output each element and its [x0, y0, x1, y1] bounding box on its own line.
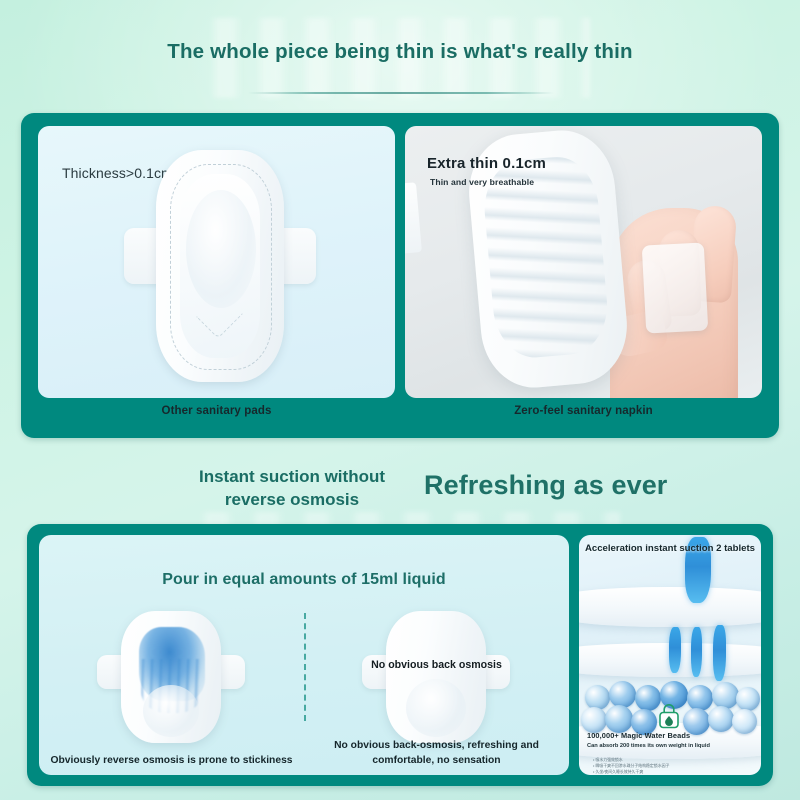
other-pads-card: Thickness>0.1cm [38, 126, 395, 398]
magic-water-beads-card: Acceleration instant suction 2 tablets 1… [579, 535, 761, 775]
pad-emboss-icon [186, 190, 256, 308]
top-layer-sheet-icon [579, 587, 761, 627]
comparison-left: Obviously reverse osmosis is prone to st… [39, 605, 304, 775]
napkin-wing-icon [405, 182, 422, 256]
water-drip-1-icon [669, 627, 681, 673]
lock-with-droplet-icon [658, 703, 680, 729]
absorption-comparison-panel: Pour in equal amounts of 15ml liquid Obv… [27, 524, 773, 786]
bead-1-icon [585, 685, 610, 710]
pour-test-title: Pour in equal amounts of 15ml liquid [39, 571, 569, 589]
comparison-right: No obvious back osmosis No obvious back-… [304, 605, 569, 775]
bead-6-icon [712, 682, 739, 709]
pour-test-card: Pour in equal amounts of 15ml liquid Obv… [39, 535, 569, 775]
mid-headline-small: Instant suction without reverse osmosis [176, 466, 408, 511]
beads-fineprint: • 吸水力强效锁水 • 瞬吸干爽不回渗水珠分子结构稳定锁水因子 • 久坐/夜间久… [593, 757, 669, 775]
extra-thin-label: Extra thin 0.1cm [427, 155, 546, 172]
bead-9-icon [605, 705, 633, 733]
product-infographic-page: The whole piece being thin is what's rea… [0, 0, 800, 800]
water-drip-2-icon [691, 627, 702, 677]
beads-absorb-label: Can absorb 200 times its own weight in l… [587, 743, 710, 749]
plain-white-sanitary-pad-image [156, 150, 284, 382]
caption-reverse-osmosis: Obviously reverse osmosis is prone to st… [49, 754, 294, 769]
beads-count-label: 100,000+ Magic Water Beads [587, 731, 690, 740]
clean-dry-pad-image [386, 611, 486, 743]
mid-headline-big: Refreshing as ever [424, 470, 667, 501]
caption-zero-feel: Zero-feel sanitary napkin [405, 405, 762, 417]
no-back-osmosis-overlay: No obvious back osmosis [304, 657, 569, 674]
bead-2-icon [609, 681, 636, 708]
bead-7-icon [736, 687, 760, 711]
top-headline: The whole piece being thin is what's rea… [0, 40, 800, 64]
release-paper-tab-icon [642, 242, 709, 333]
caption-other-pads: Other sanitary pads [38, 405, 395, 417]
bead-13-icon [732, 709, 757, 734]
bead-8-icon [581, 707, 607, 733]
caption-no-back-osmosis: No obvious back-osmosis, refreshing and … [314, 739, 559, 769]
water-drip-3-icon [713, 625, 726, 681]
zero-feel-napkin-card: Extra thin 0.1cm Thin and very breathabl… [405, 126, 762, 398]
clean-pad-emboss-icon [406, 679, 466, 737]
breathable-sublabel: Thin and very breathable [430, 177, 534, 187]
pad-with-blue-liquid-stain-image [121, 611, 221, 743]
beads-card-title: Acceleration instant suction 2 tablets [579, 541, 761, 557]
bead-12-icon [708, 706, 734, 732]
stained-pad-emboss-icon [143, 685, 199, 737]
thinness-comparison-panel: Thickness>0.1cm [21, 113, 779, 438]
bead-5-icon [687, 685, 713, 711]
top-headline-underline [248, 92, 554, 94]
top-caption-row: Other sanitary pads Zero-feel sanitary n… [21, 405, 779, 433]
